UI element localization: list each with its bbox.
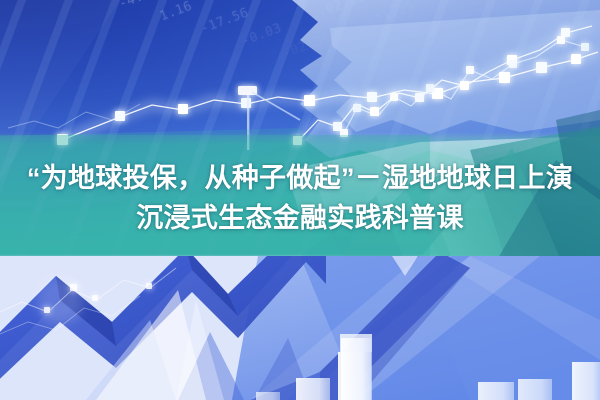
banner-image: -11.25-02.3521.05-2.26-50.02-11.2545.02-…	[0, 0, 600, 400]
title-line-1: “为地球投保，从种子做起”－湿地地球日上演	[0, 158, 600, 198]
banner-title: “为地球投保，从种子做起”－湿地地球日上演 沉浸式生态金融实践科普课	[0, 158, 600, 238]
title-line-2: 沉浸式生态金融实践科普课	[0, 198, 600, 238]
